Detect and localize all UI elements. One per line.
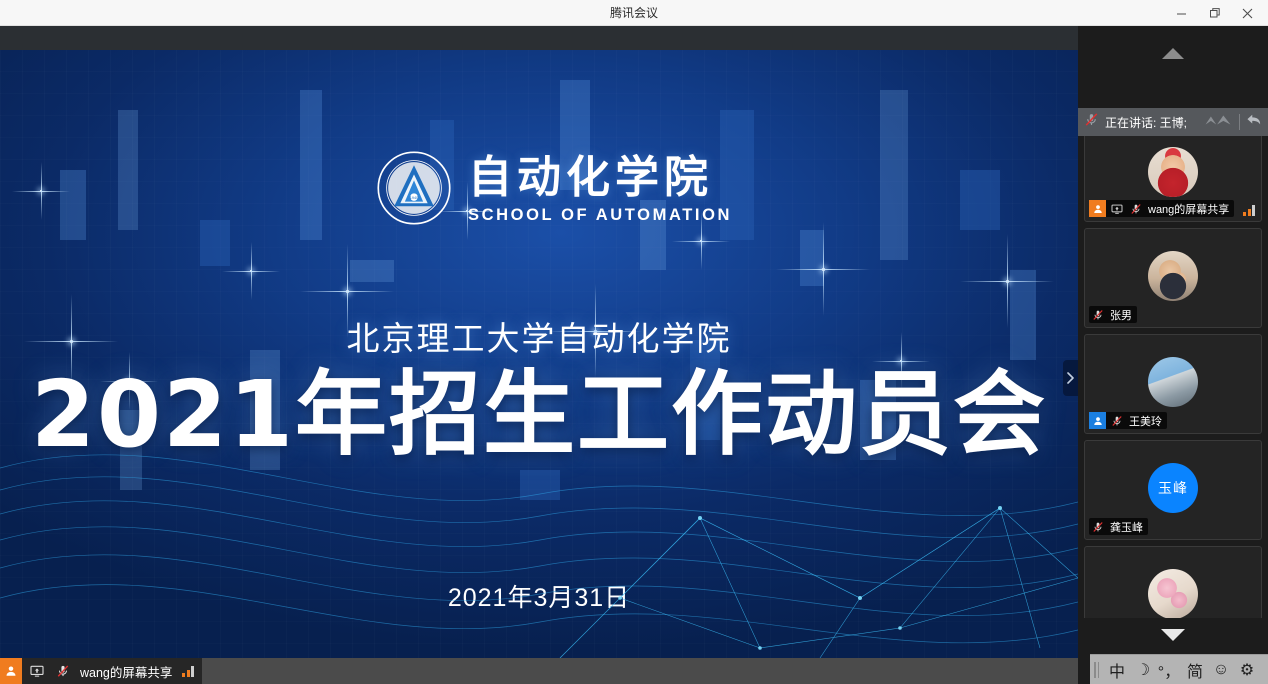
- logo-english-text: SCHOOL OF AUTOMATION: [468, 205, 732, 225]
- deco-block: [350, 260, 394, 282]
- panel-collapse-button[interactable]: [1063, 360, 1078, 396]
- ime-simplified-toggle[interactable]: 简: [1183, 657, 1207, 683]
- participant-namebar: 张男: [1089, 306, 1137, 323]
- avatar: [1148, 357, 1198, 407]
- gallery-view-icon[interactable]: [1203, 112, 1233, 133]
- scroll-down-button[interactable]: [1078, 618, 1268, 652]
- triangle-up-icon: [1162, 48, 1184, 59]
- participant-panel[interactable]: 正在讲话: 王博;: [1078, 26, 1268, 684]
- mic-muted-icon: [1089, 306, 1106, 323]
- minimize-button[interactable]: [1167, 0, 1196, 26]
- ime-emoji[interactable]: ☺: [1209, 657, 1233, 683]
- share-owner-label: wang的屏幕共享: [78, 662, 172, 681]
- participant-tile[interactable]: wang的屏幕共享: [1084, 130, 1262, 222]
- participant-name: 龚玉峰: [1108, 519, 1143, 535]
- participant-name: 王美玲: [1127, 413, 1162, 429]
- ime-punctuation-toggle[interactable]: °，: [1157, 657, 1181, 683]
- active-speaker-bar: 正在讲话: 王博;: [1078, 108, 1268, 136]
- ime-language-toggle[interactable]: 中: [1105, 657, 1129, 683]
- participant-icon: [1089, 412, 1106, 429]
- deco-star: [346, 290, 349, 293]
- minimize-icon: [1176, 8, 1187, 19]
- ime-moon-mode[interactable]: ☽: [1131, 657, 1155, 683]
- triangle-down-icon: [1161, 629, 1185, 641]
- deco-block: [880, 90, 908, 260]
- school-logo: 1940 自动化学院 SCHOOL OF AUTOMATION: [376, 142, 806, 234]
- share-indicator[interactable]: wang的屏幕共享: [0, 658, 202, 684]
- slide-main-title: 2021年招生工作动员会: [0, 360, 1078, 470]
- slide-date: 2021年3月31日: [0, 578, 1078, 614]
- chevron-right-icon: [1067, 372, 1074, 384]
- deco-block: [520, 470, 560, 500]
- deco-star: [822, 268, 825, 271]
- participant-name: 张男: [1108, 307, 1132, 323]
- signal-bars-icon: [1243, 205, 1255, 216]
- deco-block: [800, 230, 824, 286]
- participant-namebar: 王美玲: [1089, 412, 1167, 429]
- deco-block: [300, 90, 322, 240]
- participant-namebar: 龚玉峰: [1089, 518, 1148, 535]
- logo-chinese-text: 自动化学院: [468, 152, 732, 204]
- deco-block: [200, 220, 230, 266]
- window-title: 腾讯会议: [0, 0, 1268, 26]
- maximize-button[interactable]: [1200, 0, 1229, 26]
- active-speaker-label: 正在讲话: 王博;: [1105, 114, 1187, 131]
- mic-muted-icon: [1084, 112, 1099, 132]
- mic-muted-icon: [1089, 518, 1106, 535]
- reply-arrow-icon[interactable]: [1246, 113, 1262, 132]
- ime-toolbar[interactable]: 中 ☽ °， 简 ☺ ⚙: [1090, 654, 1268, 684]
- participant-tile[interactable]: 玉峰 龚玉峰: [1084, 440, 1262, 540]
- avatar: [1148, 147, 1198, 197]
- signal-bars-icon: [182, 666, 194, 677]
- presentation-slide: 1940 自动化学院 SCHOOL OF AUTOMATION 北京理工大学自动…: [0, 50, 1078, 658]
- bit-emblem-icon: 1940: [376, 150, 452, 226]
- restore-icon: [1209, 7, 1221, 19]
- participant-tile[interactable]: 张男: [1084, 228, 1262, 328]
- divider: [1239, 114, 1240, 130]
- slide-subtitle: 北京理工大学自动化学院: [0, 312, 1078, 360]
- avatar: [1148, 251, 1198, 301]
- deco-block: [60, 170, 86, 240]
- avatar: 玉峰: [1148, 463, 1198, 513]
- ime-settings[interactable]: ⚙: [1235, 657, 1259, 683]
- participant-tile[interactable]: 王美玲: [1084, 334, 1262, 434]
- mic-muted-icon: [1127, 200, 1144, 217]
- participant-name: wang的屏幕共享: [1146, 201, 1229, 217]
- deco-star: [250, 270, 252, 272]
- svg-text:1940: 1940: [410, 196, 418, 200]
- screen-share-icon: [1108, 200, 1125, 217]
- deco-star: [1006, 280, 1009, 283]
- deco-star: [700, 240, 702, 242]
- window-titlebar: 腾讯会议: [0, 0, 1268, 26]
- mic-muted-icon: [52, 658, 74, 684]
- participant-tile-list[interactable]: wang的屏幕共享 张男 王美玲: [1078, 110, 1268, 648]
- shared-screen-stage[interactable]: 1940 自动化学院 SCHOOL OF AUTOMATION 北京理工大学自动…: [0, 26, 1078, 684]
- deco-block: [960, 170, 1000, 230]
- avatar: [1148, 569, 1198, 619]
- participant-icon: [1089, 200, 1106, 217]
- deco-block: [118, 110, 138, 230]
- close-button[interactable]: [1233, 0, 1262, 26]
- avatar-initials: 玉峰: [1158, 478, 1188, 498]
- ime-drag-handle[interactable]: [1094, 662, 1101, 678]
- mic-muted-icon: [1108, 412, 1125, 429]
- scroll-up-button[interactable]: [1078, 26, 1268, 80]
- participant-namebar: wang的屏幕共享: [1089, 200, 1234, 217]
- share-status-bar: wang的屏幕共享: [0, 658, 1078, 684]
- deco-star: [40, 190, 42, 192]
- participant-icon: [0, 658, 22, 684]
- screen-share-icon: [26, 658, 48, 684]
- close-icon: [1242, 8, 1253, 19]
